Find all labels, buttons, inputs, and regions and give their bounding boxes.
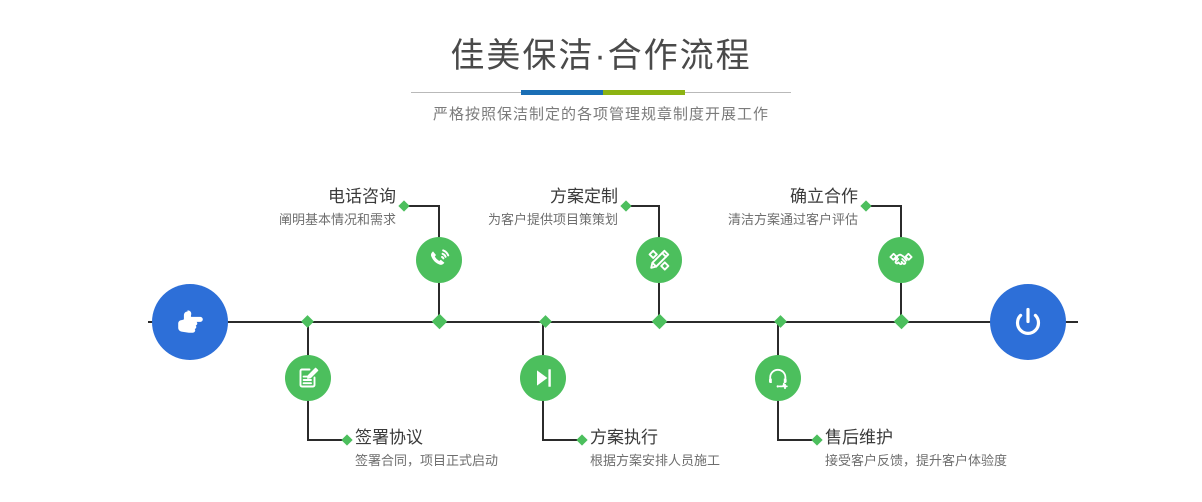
handshake-icon <box>887 246 915 274</box>
power-icon <box>1006 300 1050 344</box>
step-icon-5[interactable] <box>878 237 924 283</box>
step-label-4: 方案执行 根据方案安排人员施工 <box>590 427 840 471</box>
step-label-3: 方案定制 为客户提供项目策策划 <box>395 186 618 230</box>
page-title: 佳美保洁·合作流程 <box>0 34 1202 78</box>
step-desc-3: 为客户提供项目策策划 <box>395 210 618 230</box>
page-header: 佳美保洁·合作流程 严格按照保洁制定的各项管理规章制度开展工作 <box>0 34 1202 126</box>
page-subtitle: 严格按照保洁制定的各项管理规章制度开展工作 <box>0 104 1202 126</box>
timeline-start-node <box>152 284 228 360</box>
divider-accent-green <box>603 90 685 95</box>
leader-dot-5 <box>860 200 871 211</box>
step-label-1: 电话咨询 阐明基本情况和需求 <box>170 186 396 230</box>
customer-service-add-icon <box>764 364 792 392</box>
axis-node-1 <box>301 315 314 328</box>
step-desc-1: 阐明基本情况和需求 <box>170 210 396 230</box>
connector-stem-4 <box>542 322 544 356</box>
step-label-5: 确立合作 清洁方案通过客户评估 <box>635 186 858 230</box>
step-title-6: 售后维护 <box>825 427 1125 449</box>
connector-elbow-6 <box>777 400 779 440</box>
connector-elbow-4 <box>542 400 544 440</box>
step-label-2: 签署协议 签署合同，项目正式启动 <box>355 427 615 471</box>
title-divider <box>411 90 791 95</box>
step-icon-4[interactable] <box>520 355 566 401</box>
connector-elbow-5 <box>900 205 902 238</box>
pointing-hand-icon <box>168 300 212 344</box>
pencil-ruler-icon <box>645 246 673 274</box>
step-icon-1[interactable] <box>416 237 462 283</box>
axis-node-2 <box>432 314 448 330</box>
step-title-4: 方案执行 <box>590 427 840 449</box>
leader-dot-3 <box>620 200 631 211</box>
step-desc-2: 签署合同，项目正式启动 <box>355 451 615 471</box>
document-edit-icon <box>294 364 322 392</box>
phone-call-icon <box>425 246 453 274</box>
step-icon-3[interactable] <box>636 237 682 283</box>
connector-lead-6 <box>777 439 815 441</box>
timeline-axis <box>148 321 1078 323</box>
step-title-5: 确立合作 <box>635 186 858 208</box>
connector-lead-4 <box>542 439 580 441</box>
connector-lead-3 <box>628 205 660 207</box>
connector-elbow-1 <box>438 205 440 238</box>
play-next-icon <box>529 364 557 392</box>
step-label-6: 售后维护 接受客户反馈，提升客户体验度 <box>825 427 1125 471</box>
step-desc-5: 清洁方案通过客户评估 <box>635 210 858 230</box>
connector-lead-2 <box>307 439 345 441</box>
flowchart-page: 佳美保洁·合作流程 严格按照保洁制定的各项管理规章制度开展工作 <box>0 0 1202 502</box>
divider-accent-blue <box>521 90 603 95</box>
leader-dot-2 <box>341 434 352 445</box>
connector-elbow-3 <box>658 205 660 238</box>
connector-elbow-2 <box>307 400 309 440</box>
axis-node-6 <box>894 314 910 330</box>
timeline-end-node <box>990 284 1066 360</box>
step-desc-6: 接受客户反馈，提升客户体验度 <box>825 451 1125 471</box>
connector-stem-6 <box>777 322 779 356</box>
step-title-2: 签署协议 <box>355 427 615 449</box>
step-title-1: 电话咨询 <box>170 186 396 208</box>
step-icon-2[interactable] <box>285 355 331 401</box>
connector-lead-5 <box>868 205 902 207</box>
axis-node-4 <box>652 314 668 330</box>
step-desc-4: 根据方案安排人员施工 <box>590 451 840 471</box>
step-icon-6[interactable] <box>755 355 801 401</box>
connector-lead-1 <box>406 205 440 207</box>
